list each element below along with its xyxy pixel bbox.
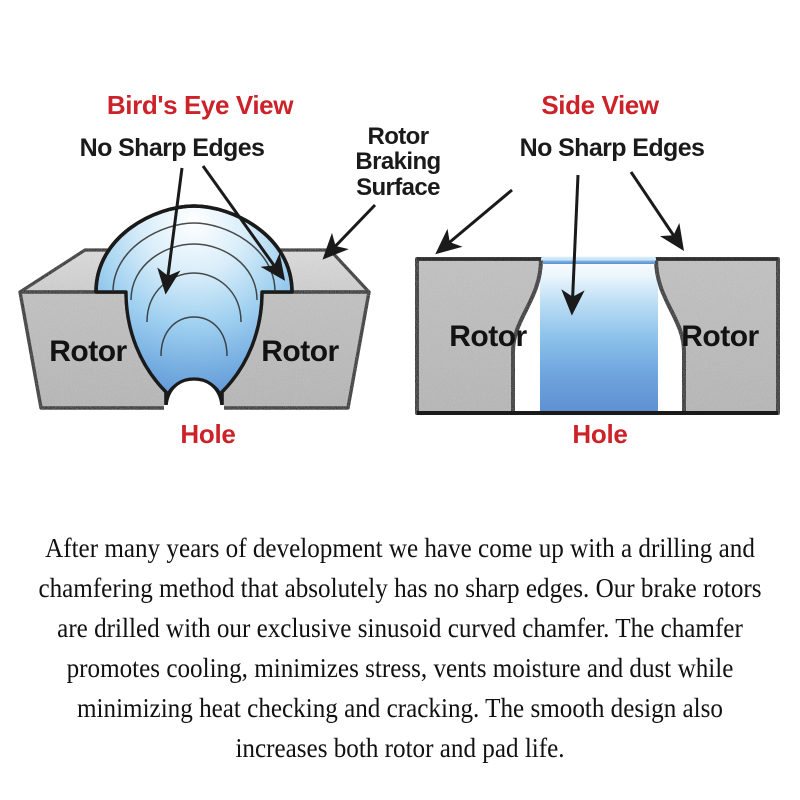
side-view-rotor-left-label: Rotor (428, 320, 548, 354)
bird-eye-hole-label: Hole (148, 419, 268, 450)
rotor-braking-surface-line-1: Rotor (328, 124, 468, 149)
bird-eye-rotor-right-label: Rotor (240, 335, 360, 369)
side-view-heading: Side View (450, 90, 750, 121)
rotor-chamfer-diagram: Bird's Eye View No Sharp Edges Rotor Bra… (0, 0, 800, 800)
bird-eye-rotor-left-label: Rotor (28, 335, 148, 369)
rotor-braking-surface-line-3: Surface (328, 175, 468, 200)
bird-eye-view-illustration (20, 166, 375, 412)
bird-eye-view-heading: Bird's Eye View (0, 90, 400, 121)
side-view-illustration (417, 172, 778, 413)
side-view-hole-label: Hole (540, 419, 660, 450)
side-view-hole-channel (540, 258, 658, 413)
rotor-braking-surface-arrow (325, 205, 375, 257)
side-view-rotor-right-label: Rotor (660, 320, 780, 354)
bird-eye-no-sharp-edges-label: No Sharp Edges (12, 135, 332, 162)
rotor-braking-surface-label: Rotor Braking Surface (328, 124, 468, 200)
description-paragraph: After many years of development we have … (35, 528, 764, 768)
side-view-no-sharp-edges-label: No Sharp Edges (452, 135, 772, 162)
rotor-braking-surface-line-2: Braking (328, 149, 468, 174)
